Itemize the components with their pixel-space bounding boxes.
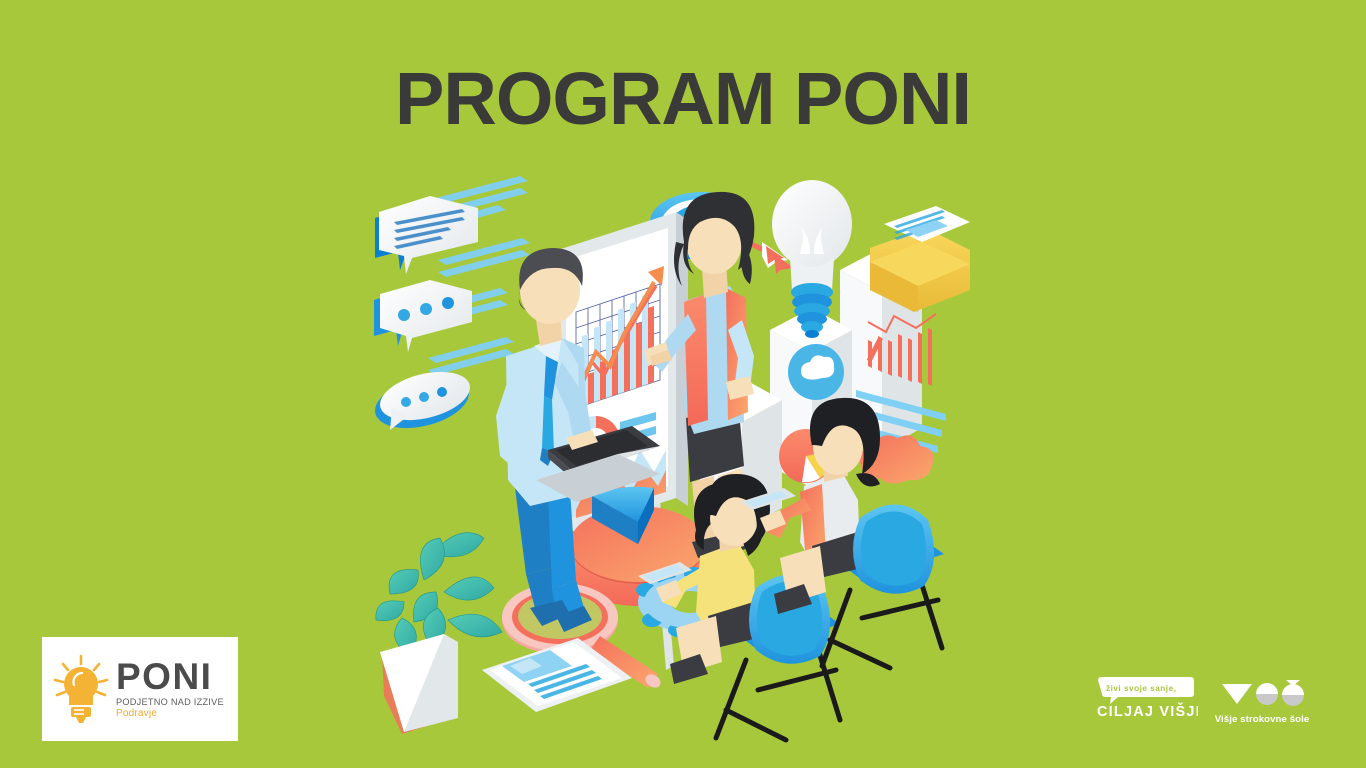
slide-canvas: PROGRAM PONI: [0, 0, 1366, 768]
chat-bubble-lines-icon: [375, 196, 478, 274]
poni-tagline: PODJETNO NAD IZZIVE: [116, 697, 224, 707]
business-teamwork-presentation-illustration: [370, 150, 1010, 750]
chat-bubble-dots-icon: [374, 280, 472, 352]
slogan-line2: CILJAJ VIŠJE!: [1097, 702, 1198, 720]
vss-label: Višje strokovne šole: [1208, 714, 1316, 725]
folder-document-icon: [870, 206, 970, 312]
lightbulb-icon: [50, 653, 112, 725]
slogan-line1: živi svoje sanje,: [1106, 684, 1176, 693]
pie-chart-blue-icon: [788, 344, 844, 400]
triangle-down-icon: [1222, 684, 1252, 704]
page-title: PROGRAM PONI: [0, 62, 1366, 136]
poni-logo: PONI PODJETNO NAD IZZIVE Podravje: [42, 637, 238, 741]
circle-with-cap-icon: [1282, 680, 1304, 706]
slogan-badge: živi svoje sanje, CILJAJ VIŠJE!: [1094, 676, 1198, 724]
half-circle-icon: [1256, 683, 1278, 705]
vss-logo: Višje strokovne šole: [1208, 678, 1316, 724]
potted-plant: [376, 533, 502, 734]
poni-region-label: Podravje: [116, 708, 224, 719]
chat-bubble-oval-icon: [370, 364, 475, 437]
poni-wordmark: PONI: [116, 659, 224, 694]
